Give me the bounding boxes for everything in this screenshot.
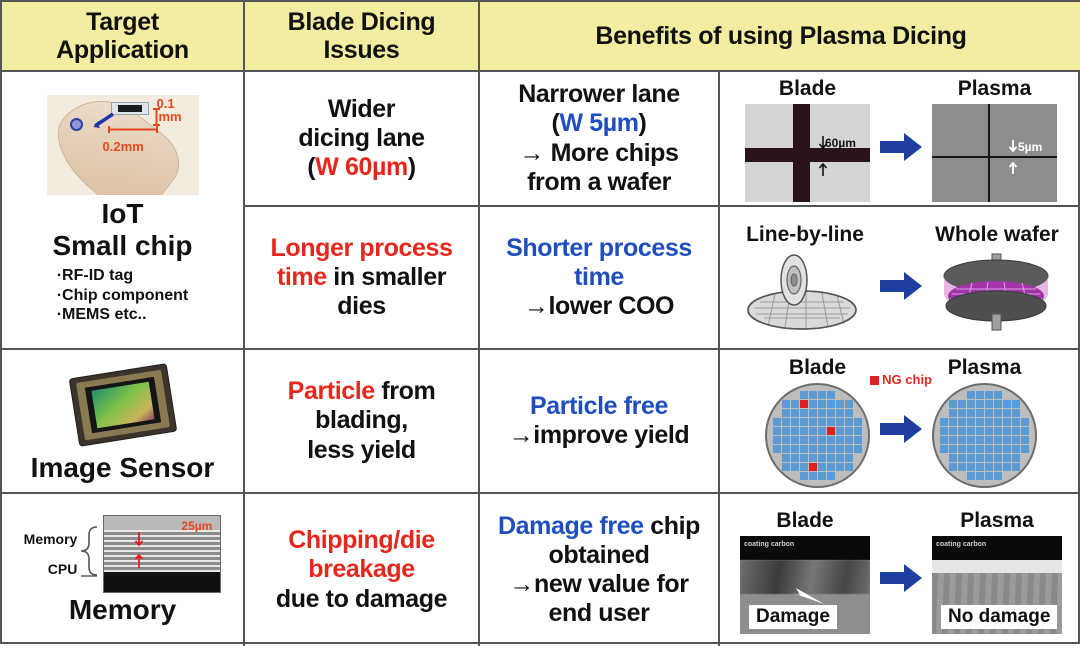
die-cell bbox=[1021, 427, 1029, 435]
die-cell bbox=[967, 436, 975, 444]
die-cell bbox=[809, 409, 817, 417]
ng-chip-legend: NG chip bbox=[870, 372, 932, 387]
die-cell bbox=[1012, 409, 1020, 417]
application-title: Memory bbox=[69, 595, 176, 624]
die-cell bbox=[976, 418, 984, 426]
die-cell bbox=[845, 472, 853, 480]
die-cell bbox=[836, 427, 844, 435]
memory-stack-photo: 25µm bbox=[103, 515, 221, 593]
die-cell bbox=[854, 454, 862, 462]
die-cell bbox=[985, 409, 993, 417]
die-cell bbox=[791, 400, 799, 408]
cell-issue-particle: Particle from blading, less yield bbox=[245, 350, 480, 494]
benefit-line2: →improve yield bbox=[509, 421, 690, 450]
transition-arrow bbox=[870, 270, 932, 302]
die-cell bbox=[791, 436, 799, 444]
die-cell bbox=[836, 463, 844, 471]
die-cell bbox=[949, 445, 957, 453]
die-cell bbox=[958, 463, 966, 471]
die-cell bbox=[836, 445, 844, 453]
die-cell bbox=[791, 391, 799, 399]
benefit-line3: →new value for bbox=[509, 570, 688, 599]
cell-application-memory: Memory CPU 25µm Memory bbox=[2, 494, 245, 646]
die-cell bbox=[958, 427, 966, 435]
die-cell bbox=[773, 454, 781, 462]
die-cell bbox=[976, 454, 984, 462]
die-cell bbox=[791, 463, 799, 471]
die-cell bbox=[827, 463, 835, 471]
benefit-line4: end user bbox=[549, 599, 650, 628]
die-cell bbox=[1012, 400, 1020, 408]
issue-lane-width: W 60µm bbox=[315, 153, 408, 181]
die-cell bbox=[1021, 400, 1029, 408]
bullet-item: Chip component bbox=[57, 286, 189, 306]
die-cell bbox=[827, 400, 835, 408]
issue-line2: dicing lane bbox=[298, 124, 424, 153]
benefit-line1-rest: chip bbox=[644, 512, 700, 540]
die-cell bbox=[773, 472, 781, 480]
pane-label-plasma: Plasma bbox=[958, 77, 1032, 101]
die-cell bbox=[949, 391, 957, 399]
chip-on-finger bbox=[70, 118, 83, 131]
plasma-chamber-illustration bbox=[932, 250, 1062, 334]
die-cell bbox=[994, 445, 1002, 453]
die-cell bbox=[773, 409, 781, 417]
die-cell bbox=[958, 400, 966, 408]
header-col2-line2: Issues bbox=[323, 36, 399, 64]
die-cell bbox=[940, 436, 948, 444]
die-cell bbox=[845, 391, 853, 399]
die-cell bbox=[782, 418, 790, 426]
die-cell bbox=[791, 445, 799, 453]
application-title: Image Sensor bbox=[31, 453, 215, 482]
issue-line3: less yield bbox=[307, 436, 416, 465]
die-cell bbox=[836, 436, 844, 444]
carbon-coating-layer bbox=[740, 536, 870, 560]
paren-close: ) bbox=[639, 109, 647, 137]
die-cell bbox=[818, 409, 826, 417]
cell-benefit-damage-free: Damage free chip obtained →new value for… bbox=[480, 494, 720, 646]
die-cell bbox=[1012, 427, 1020, 435]
plasma-sem-image: coating carbon dicing face No damage bbox=[932, 536, 1062, 634]
die-cell bbox=[1003, 400, 1011, 408]
die-cell bbox=[854, 400, 862, 408]
die-cell bbox=[845, 454, 853, 462]
issue-line3: (W 60µm) bbox=[307, 153, 415, 182]
die-cell bbox=[827, 391, 835, 399]
die-cell bbox=[940, 472, 948, 480]
die-cell bbox=[994, 427, 1002, 435]
pane-plasma-sem: Plasma coating carbon dicing face No dam… bbox=[932, 509, 1062, 634]
die-cell bbox=[836, 391, 844, 399]
blade-saw-wafer-illustration bbox=[740, 250, 870, 334]
die-cell bbox=[949, 418, 957, 426]
die-cell bbox=[818, 400, 826, 408]
die-cell bbox=[1003, 472, 1011, 480]
die-cell bbox=[958, 472, 966, 480]
die-cell bbox=[985, 454, 993, 462]
die-cell bbox=[773, 436, 781, 444]
die-cell bbox=[958, 418, 966, 426]
lane-width-arrows-icon bbox=[1008, 138, 1018, 176]
die-cell bbox=[940, 445, 948, 453]
cell-figure-yield-comparison: Blade NG chip Plasma bbox=[720, 350, 1080, 494]
damage-pointer-icon bbox=[792, 586, 826, 606]
no-damage-tag: No damage bbox=[941, 605, 1057, 629]
die-cell bbox=[818, 454, 826, 462]
die-cell bbox=[949, 427, 957, 435]
issue-line2-rest: in smaller bbox=[327, 263, 446, 291]
benefit-line1: Particle free bbox=[530, 392, 668, 421]
die-cell bbox=[782, 436, 790, 444]
die-cell bbox=[1012, 463, 1020, 471]
die-cell bbox=[1012, 391, 1020, 399]
pane-label-blade: Blade bbox=[779, 77, 836, 101]
pane-label-line-by-line: Line-by-line bbox=[746, 223, 864, 247]
die-cell bbox=[845, 409, 853, 417]
issue-line2: blading, bbox=[315, 406, 408, 435]
die-cell bbox=[994, 409, 1002, 417]
issue-line2: time in smaller bbox=[277, 263, 446, 292]
die-cell bbox=[854, 445, 862, 453]
die-cell bbox=[976, 436, 984, 444]
annotation-height-unit: mm bbox=[159, 110, 182, 123]
cell-issue-longer-process: Longer process time in smaller dies bbox=[245, 207, 480, 350]
die-cell bbox=[985, 436, 993, 444]
transition-arrow bbox=[870, 413, 932, 445]
die-cell bbox=[782, 445, 790, 453]
die-cell bbox=[782, 472, 790, 480]
die-cell bbox=[800, 454, 808, 462]
die-cell bbox=[958, 445, 966, 453]
figure-two-up: Line-by-line W bbox=[722, 211, 1080, 346]
cpu-layer bbox=[104, 572, 220, 592]
die-cell bbox=[845, 445, 853, 453]
die-cell bbox=[854, 409, 862, 417]
bullet-item: MEMS etc.. bbox=[57, 305, 189, 325]
lane-horizontal bbox=[745, 148, 870, 162]
die-cell bbox=[809, 454, 817, 462]
right-arrow-icon bbox=[878, 131, 924, 163]
sem-label-coating-carbon: coating carbon bbox=[744, 541, 794, 548]
transition-arrow bbox=[870, 131, 932, 163]
bracket-icon bbox=[81, 519, 99, 589]
die-cell bbox=[976, 409, 984, 417]
die-cell bbox=[1003, 436, 1011, 444]
benefit-damage-free-highlight: Damage free bbox=[498, 512, 644, 540]
die-cell bbox=[976, 472, 984, 480]
header-col3: Benefits of using Plasma Dicing bbox=[595, 22, 966, 50]
die-cell bbox=[791, 427, 799, 435]
die-cell bbox=[854, 472, 862, 480]
die-cell bbox=[791, 418, 799, 426]
die-cell bbox=[800, 445, 808, 453]
die-cell bbox=[967, 409, 975, 417]
die-cell bbox=[782, 454, 790, 462]
cell-issue-chipping: Chipping/die breakage due to damage bbox=[245, 494, 480, 646]
die-cell bbox=[985, 400, 993, 408]
benefit-lane-width: W 5µm bbox=[559, 109, 638, 137]
die-cell bbox=[836, 409, 844, 417]
die-cell bbox=[949, 454, 957, 462]
die-cell bbox=[827, 427, 835, 435]
die-cell bbox=[1012, 472, 1020, 480]
die-cell bbox=[809, 391, 817, 399]
die-cell bbox=[773, 445, 781, 453]
bullet-item: RF-ID tag bbox=[57, 266, 189, 286]
pane-label-plasma: Plasma bbox=[960, 509, 1034, 533]
benefit-line4: from a wafer bbox=[527, 168, 671, 197]
pane-label-whole-wafer: Whole wafer bbox=[935, 223, 1059, 247]
damage-tag: Damage bbox=[749, 605, 837, 629]
issue-line3: due to damage bbox=[276, 585, 447, 614]
die-cell bbox=[1021, 391, 1029, 399]
cell-application-iot: 0.1 mm 0.2mm IoT Small chip RF-ID tag Ch… bbox=[2, 72, 245, 350]
die-cell bbox=[1021, 418, 1029, 426]
die-cell bbox=[994, 400, 1002, 408]
die-cell bbox=[800, 409, 808, 417]
die-cell bbox=[809, 463, 817, 471]
die-cell bbox=[818, 436, 826, 444]
image-sensor-photo bbox=[48, 359, 198, 451]
die-cell bbox=[800, 427, 808, 435]
blade-lane-micrograph: 60µm bbox=[745, 104, 870, 202]
pane-blade-sem: Blade coating carbon dicing face amorpho… bbox=[740, 509, 870, 634]
memory-label: Memory bbox=[24, 531, 78, 547]
die-cell bbox=[967, 418, 975, 426]
die-cell bbox=[967, 463, 975, 471]
die-cell bbox=[827, 409, 835, 417]
application-bullets: RF-ID tag Chip component MEMS etc.. bbox=[57, 266, 189, 325]
plasma-wafer-map bbox=[932, 383, 1037, 488]
die-cell bbox=[845, 436, 853, 444]
cell-figure-damage-comparison: Blade coating carbon dicing face amorpho… bbox=[720, 494, 1080, 646]
die-cell bbox=[985, 391, 993, 399]
die-grid bbox=[940, 391, 1029, 480]
die-cell bbox=[818, 418, 826, 426]
die-cell bbox=[958, 454, 966, 462]
die-cell bbox=[827, 436, 835, 444]
die-cell bbox=[994, 391, 1002, 399]
die-cell bbox=[1021, 463, 1029, 471]
benefit-line1: Damage free chip bbox=[498, 512, 700, 541]
die-cell bbox=[773, 463, 781, 471]
paren-close: ) bbox=[408, 153, 416, 181]
die-cell bbox=[782, 400, 790, 408]
header-target-application: Target Application bbox=[2, 2, 245, 72]
die-cell bbox=[1003, 391, 1011, 399]
benefit-line1: Narrower lane bbox=[518, 80, 680, 109]
memory-figure: Memory CPU 25µm bbox=[24, 515, 222, 593]
header-blade-dicing-issues: Blade Dicing Issues bbox=[245, 2, 480, 72]
die-cell bbox=[809, 472, 817, 480]
sem-label-coating-carbon: coating carbon bbox=[936, 541, 986, 548]
die-cell bbox=[800, 418, 808, 426]
die-cell bbox=[967, 454, 975, 462]
die-cell bbox=[854, 427, 862, 435]
die-cell bbox=[958, 409, 966, 417]
die-cell bbox=[836, 454, 844, 462]
cell-figure-throughput-comparison: Line-by-line W bbox=[720, 207, 1080, 350]
die-cell bbox=[1021, 445, 1029, 453]
die-cell bbox=[809, 400, 817, 408]
die-cell bbox=[949, 463, 957, 471]
die-cell bbox=[845, 400, 853, 408]
die-cell bbox=[800, 436, 808, 444]
cpu-label: CPU bbox=[48, 561, 78, 577]
lane-horizontal bbox=[932, 156, 1057, 158]
die-cell bbox=[827, 454, 835, 462]
cell-benefit-shorter-process: Shorter process time →lower COO bbox=[480, 207, 720, 350]
die-cell bbox=[994, 463, 1002, 471]
die-cell bbox=[985, 418, 993, 426]
application-title-line1: IoT bbox=[102, 199, 144, 228]
pane-label-blade: Blade bbox=[789, 356, 846, 380]
memory-side-labels: Memory CPU bbox=[24, 531, 78, 577]
die-cell bbox=[782, 391, 790, 399]
carbon-coating-layer bbox=[932, 536, 1062, 560]
die-cell bbox=[854, 391, 862, 399]
die-cell bbox=[976, 427, 984, 435]
issue-particle-highlight: Particle bbox=[288, 377, 375, 405]
die-cell bbox=[791, 472, 799, 480]
die-cell bbox=[854, 418, 862, 426]
die-cell bbox=[800, 400, 808, 408]
benefit-line2: obtained bbox=[549, 541, 650, 570]
die-cell bbox=[1003, 409, 1011, 417]
header-col1-line1: Target bbox=[86, 8, 159, 36]
die-cell bbox=[967, 427, 975, 435]
die-cell bbox=[949, 409, 957, 417]
die-cell bbox=[958, 391, 966, 399]
die-cell bbox=[985, 427, 993, 435]
die-cell bbox=[1012, 418, 1020, 426]
die-cell bbox=[782, 409, 790, 417]
die-cell bbox=[827, 472, 835, 480]
ng-chip-swatch bbox=[870, 376, 879, 385]
die-cell bbox=[994, 472, 1002, 480]
ng-chip-legend-label: NG chip bbox=[882, 372, 932, 387]
die-cell bbox=[940, 463, 948, 471]
die-cell bbox=[836, 418, 844, 426]
pane-plasma-wafer: Plasma bbox=[932, 356, 1037, 488]
die-cell bbox=[976, 400, 984, 408]
memory-layers bbox=[104, 530, 220, 572]
die-cell bbox=[818, 391, 826, 399]
chip-closeup bbox=[111, 102, 149, 115]
die-cell bbox=[967, 400, 975, 408]
pane-line-by-line: Line-by-line bbox=[740, 223, 870, 334]
die-cell bbox=[949, 472, 957, 480]
die-cell bbox=[949, 400, 957, 408]
die-cell bbox=[809, 436, 817, 444]
die-cell bbox=[1021, 472, 1029, 480]
die-cell bbox=[809, 427, 817, 435]
plasma-lane-annotation: 5µm bbox=[1018, 140, 1042, 154]
interface-band bbox=[932, 560, 1062, 573]
die-cell bbox=[773, 418, 781, 426]
die-cell bbox=[994, 454, 1002, 462]
die-grid bbox=[773, 391, 862, 480]
pane-whole-wafer: Whole wafer bbox=[932, 223, 1062, 334]
header-col1-line2: Application bbox=[56, 36, 189, 64]
die-cell bbox=[782, 427, 790, 435]
die-cell bbox=[800, 463, 808, 471]
die-cell bbox=[940, 418, 948, 426]
right-arrow-icon bbox=[878, 413, 924, 445]
benefit-line1: Shorter process bbox=[506, 234, 692, 263]
plasma-lane-micrograph: 5µm bbox=[932, 104, 1057, 202]
die-cell bbox=[940, 400, 948, 408]
iot-finger-photo: 0.1 mm 0.2mm bbox=[47, 95, 199, 195]
die-cell bbox=[773, 427, 781, 435]
die-cell bbox=[1021, 409, 1029, 417]
die-cell bbox=[818, 472, 826, 480]
die-cell bbox=[940, 409, 948, 417]
pane-label-blade: Blade bbox=[776, 509, 833, 533]
die-cell bbox=[967, 472, 975, 480]
benefit-line3: →lower COO bbox=[524, 292, 674, 321]
die-cell bbox=[818, 427, 826, 435]
pane-blade-wafer: Blade NG chip bbox=[765, 356, 870, 488]
transition-arrow bbox=[870, 562, 932, 594]
figure-two-up: Blade NG chip Plasma bbox=[722, 354, 1080, 490]
header-col2-line1: Blade Dicing bbox=[288, 8, 436, 36]
die-cell bbox=[958, 436, 966, 444]
die-cell bbox=[782, 463, 790, 471]
die-cell bbox=[976, 463, 984, 471]
die-cell bbox=[809, 445, 817, 453]
cell-figure-lane-comparison: Blade 60µm Plasma bbox=[720, 72, 1080, 207]
issue-line1: Chipping/die bbox=[288, 526, 435, 555]
lane-vertical bbox=[988, 104, 990, 202]
issue-line1-rest: from bbox=[375, 377, 436, 405]
die-cell bbox=[854, 463, 862, 471]
die-cell bbox=[818, 445, 826, 453]
pane-plasma: Plasma 5µm bbox=[932, 77, 1057, 202]
pane-blade: Blade 60µm bbox=[745, 77, 870, 202]
die-cell bbox=[773, 391, 781, 399]
die-cell bbox=[827, 418, 835, 426]
die-cell bbox=[773, 400, 781, 408]
benefit-line3: → More chips bbox=[519, 139, 678, 168]
die-cell bbox=[940, 391, 948, 399]
blade-wafer-map bbox=[765, 383, 870, 488]
die-cell bbox=[1003, 418, 1011, 426]
die-cell bbox=[1012, 445, 1020, 453]
issue-line2: breakage bbox=[308, 555, 415, 584]
blade-lane-annotation: 60µm bbox=[825, 136, 856, 150]
benefit-line2: (W 5µm) bbox=[552, 109, 647, 138]
die-cell bbox=[827, 445, 835, 453]
die-cell bbox=[1021, 454, 1029, 462]
die-cell bbox=[836, 400, 844, 408]
die-cell bbox=[845, 427, 853, 435]
die-cell bbox=[854, 436, 862, 444]
die-cell bbox=[800, 472, 808, 480]
die-cell bbox=[1012, 436, 1020, 444]
die-cell bbox=[791, 409, 799, 417]
cell-issue-wider-lane: Wider dicing lane (W 60µm) bbox=[245, 72, 480, 207]
issue-line1: Wider bbox=[328, 95, 395, 124]
die-cell bbox=[800, 391, 808, 399]
paren-open: ( bbox=[307, 153, 315, 181]
die-cell bbox=[985, 445, 993, 453]
cell-application-image-sensor: Image Sensor bbox=[2, 350, 245, 494]
figure-two-up: Blade coating carbon dicing face amorpho… bbox=[722, 498, 1080, 644]
die-cell bbox=[994, 436, 1002, 444]
die-cell bbox=[1003, 445, 1011, 453]
